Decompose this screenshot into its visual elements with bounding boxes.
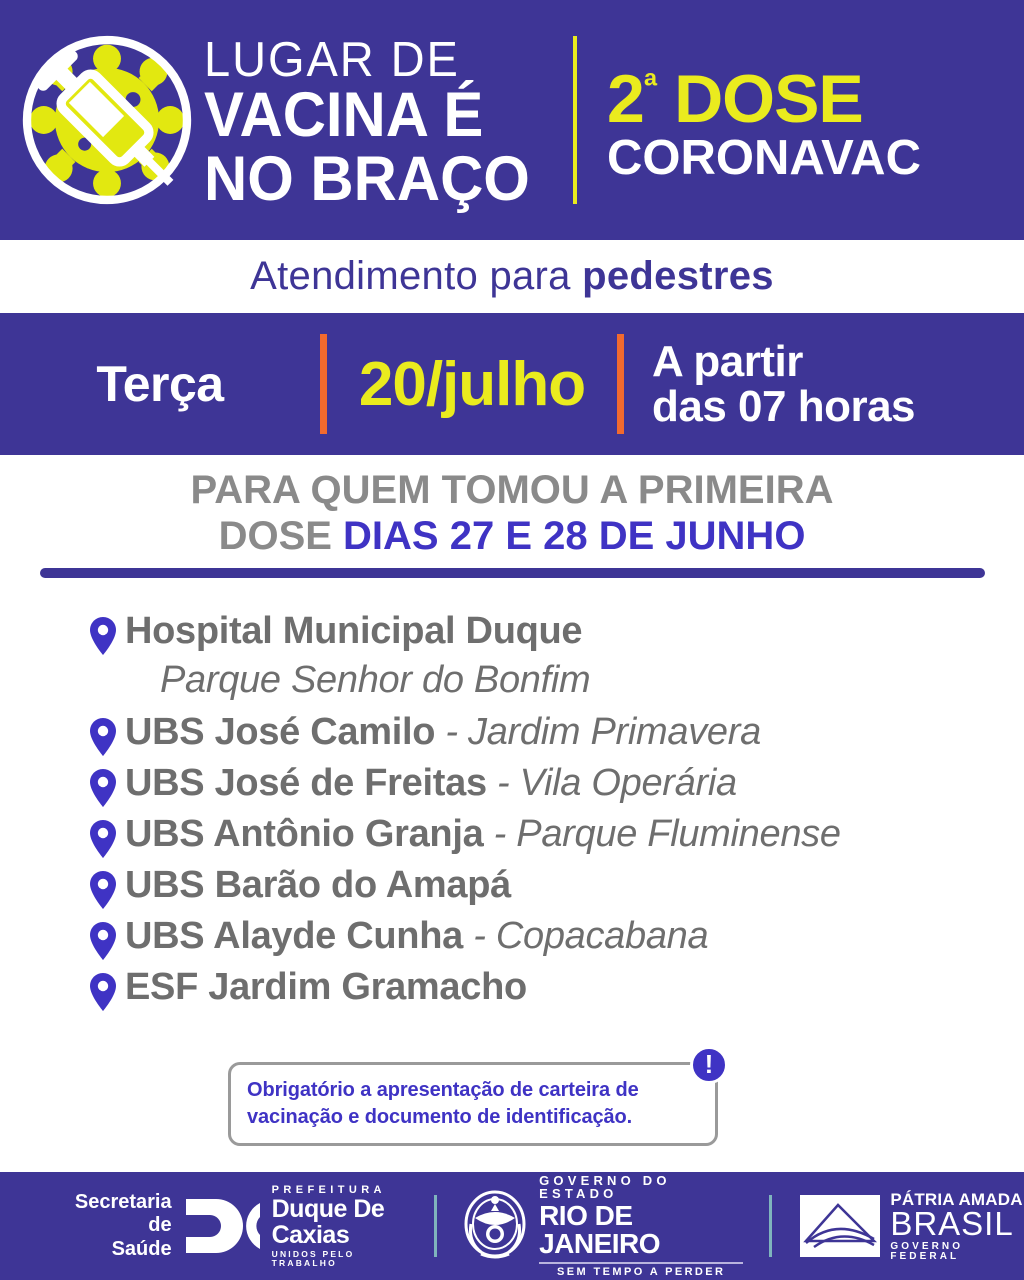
location-name: UBS Barão do Amapá [125, 860, 511, 910]
footer-prefeitura-block: Secretaria de Saúde PREFEITURA Duque De … [0, 1185, 434, 1268]
rio-de-janeiro-wordmark: GOVERNO DO ESTADO RIO DE JANEIRO SEM TEM… [539, 1174, 743, 1278]
map-pin-icon [90, 718, 116, 756]
location-name: UBS José de Freitas - Vila Operária [125, 758, 737, 808]
location-text-group: Hospital Municipal Duque Parque Senhor d… [125, 606, 590, 706]
location-name: UBS Alayde Cunha - Copacabana [125, 911, 708, 961]
date-divider-left [320, 334, 327, 434]
footer-logos: Secretaria de Saúde PREFEITURA Duque De … [0, 1172, 1024, 1280]
footer-estado-block: GOVERNO DO ESTADO RIO DE JANEIRO SEM TEM… [437, 1174, 769, 1278]
virus-syringe-icon [14, 27, 200, 213]
secretaria-line-2: Saúde [56, 1238, 172, 1262]
header-vertical-divider [573, 36, 577, 204]
pedestrian-prefix: Atendimento para [250, 254, 582, 298]
list-item: UBS Alayde Cunha - Copacabana [90, 911, 990, 961]
section-divider-rule [40, 568, 985, 578]
list-item: UBS Barão do Amapá [90, 860, 990, 910]
header-line-3: NO BRAÇO [204, 150, 530, 210]
time-line-2: das 07 horas [652, 384, 1024, 429]
vaccine-name: CORONAVAC [607, 134, 1024, 183]
location-subtitle: Parque Senhor do Bonfim [160, 656, 590, 705]
exclamation-icon: ! [690, 1046, 728, 1084]
date-label: 20/julho [327, 349, 617, 420]
location-neighborhood: - Parque Fluminense [483, 813, 840, 855]
duque-de-caxias-dc-logo [184, 1197, 262, 1255]
secretaria-saude-label: Secretaria de Saúde [56, 1191, 172, 1262]
map-pin-icon [90, 617, 116, 655]
list-item: UBS Antônio Granja - Parque Fluminense [90, 809, 990, 859]
location-title: UBS Antônio Granja [125, 813, 483, 855]
location-title: UBS José Camilo [125, 711, 435, 753]
dose-ordinal: ª [644, 65, 656, 106]
map-pin-icon [90, 973, 116, 1011]
location-neighborhood: - Vila Operária [487, 762, 737, 804]
rio-de-janeiro-coat-of-arms [463, 1190, 527, 1262]
footer-federal-block: PÁTRIA AMADA BRASIL GOVERNO FEDERAL [772, 1191, 1024, 1262]
map-pin-icon [90, 871, 116, 909]
requirement-note-box: Obrigatório a apresentação de carteira d… [228, 1062, 718, 1146]
federal-big: BRASIL [890, 1207, 1024, 1240]
eligibility-headline: PARA QUEM TOMOU A PRIMEIRA DOSE DIAS 27 … [0, 468, 1024, 559]
pedestrian-service-band: Atendimento para pedestres [0, 240, 1024, 313]
requirement-line-2: vacinação e documento de identificação. [247, 1104, 639, 1131]
prefeitura-tagline: UNIDOS PELO TRABALHO [272, 1250, 412, 1267]
location-neighborhood: - Jardim Primavera [435, 711, 761, 753]
estado-tagline: SEM TEMPO A PERDER [539, 1267, 743, 1278]
location-list: Hospital Municipal Duque Parque Senhor d… [90, 606, 990, 1013]
prefeitura-wordmark: PREFEITURA Duque De Caxias UNIDOS PELO T… [272, 1185, 412, 1268]
location-neighborhood: - Copacabana [463, 915, 708, 957]
requirement-line-1: Obrigatório a apresentação de carteira d… [247, 1077, 639, 1104]
brasil-wordmark: PÁTRIA AMADA BRASIL GOVERNO FEDERAL [890, 1191, 1024, 1262]
map-pin-icon [90, 922, 116, 960]
location-title: UBS Alayde Cunha [125, 915, 463, 957]
map-pin-icon [90, 769, 116, 807]
prefeitura-big-1: Duque De [272, 1198, 412, 1222]
location-name: ESF Jardim Gramacho [125, 962, 527, 1012]
pedestrian-service-text: Atendimento para pedestres [250, 254, 774, 299]
location-title: UBS José de Freitas [125, 762, 487, 804]
list-item: ESF Jardim Gramacho [90, 962, 990, 1012]
date-band: Terça 20/julho A partir das 07 horas [0, 313, 1024, 455]
location-title: UBS Barão do Amapá [125, 864, 511, 906]
header-title-block: LUGAR DE VACINA É NO BRAÇO [204, 30, 547, 210]
prefeitura-big-2: Caxias [272, 1224, 412, 1248]
location-title: ESF Jardim Gramacho [125, 966, 527, 1008]
estado-big: RIO DE JANEIRO [539, 1202, 743, 1258]
map-pin-icon [90, 820, 116, 858]
header-line-1: LUGAR DE [204, 36, 533, 84]
governo-federal-arch-emblem [800, 1195, 880, 1257]
vaccination-poster: LUGAR DE VACINA É NO BRAÇO 2ª DOSE CORON… [0, 0, 1024, 1280]
date-divider-right [617, 334, 624, 434]
headline-accent: DIAS 27 E 28 DE JUNHO [343, 514, 805, 558]
requirement-note-text: Obrigatório a apresentação de carteira d… [247, 1077, 639, 1131]
header-banner: LUGAR DE VACINA É NO BRAÇO 2ª DOSE CORON… [0, 0, 1024, 240]
location-name: UBS Antônio Granja - Parque Fluminense [125, 809, 841, 859]
list-item: Hospital Municipal Duque Parque Senhor d… [90, 606, 990, 706]
dose-word: DOSE [674, 61, 863, 137]
headline-line-1: PARA QUEM TOMOU A PRIMEIRA [0, 468, 1024, 514]
dose-number: 2 [607, 61, 644, 137]
weekday-label: Terça [0, 355, 320, 413]
dose-headline: 2ª DOSE [607, 67, 1024, 132]
list-item: UBS José Camilo - Jardim Primavera [90, 707, 990, 757]
location-name: UBS José Camilo - Jardim Primavera [125, 707, 761, 757]
estado-underline [539, 1262, 743, 1264]
headline-line-2: DOSE DIAS 27 E 28 DE JUNHO [0, 514, 1024, 560]
requirement-note: Obrigatório a apresentação de carteira d… [228, 1062, 728, 1146]
exclamation-glyph: ! [705, 1051, 714, 1077]
location-name: Hospital Municipal Duque [125, 606, 590, 656]
time-line-1: A partir [652, 339, 1024, 384]
estado-small: GOVERNO DO ESTADO [539, 1174, 743, 1200]
time-label: A partir das 07 horas [624, 339, 1024, 430]
pedestrian-highlight: pedestres [582, 254, 774, 298]
headline-prefix: DOSE [219, 514, 343, 558]
list-item: UBS José de Freitas - Vila Operária [90, 758, 990, 808]
secretaria-line-1: Secretaria de [56, 1191, 172, 1238]
dose-block: 2ª DOSE CORONAVAC [607, 57, 1024, 183]
federal-tagline: GOVERNO FEDERAL [890, 1242, 1024, 1262]
location-title: Hospital Municipal Duque [125, 610, 582, 652]
header-line-2: VACINA É [204, 86, 530, 146]
